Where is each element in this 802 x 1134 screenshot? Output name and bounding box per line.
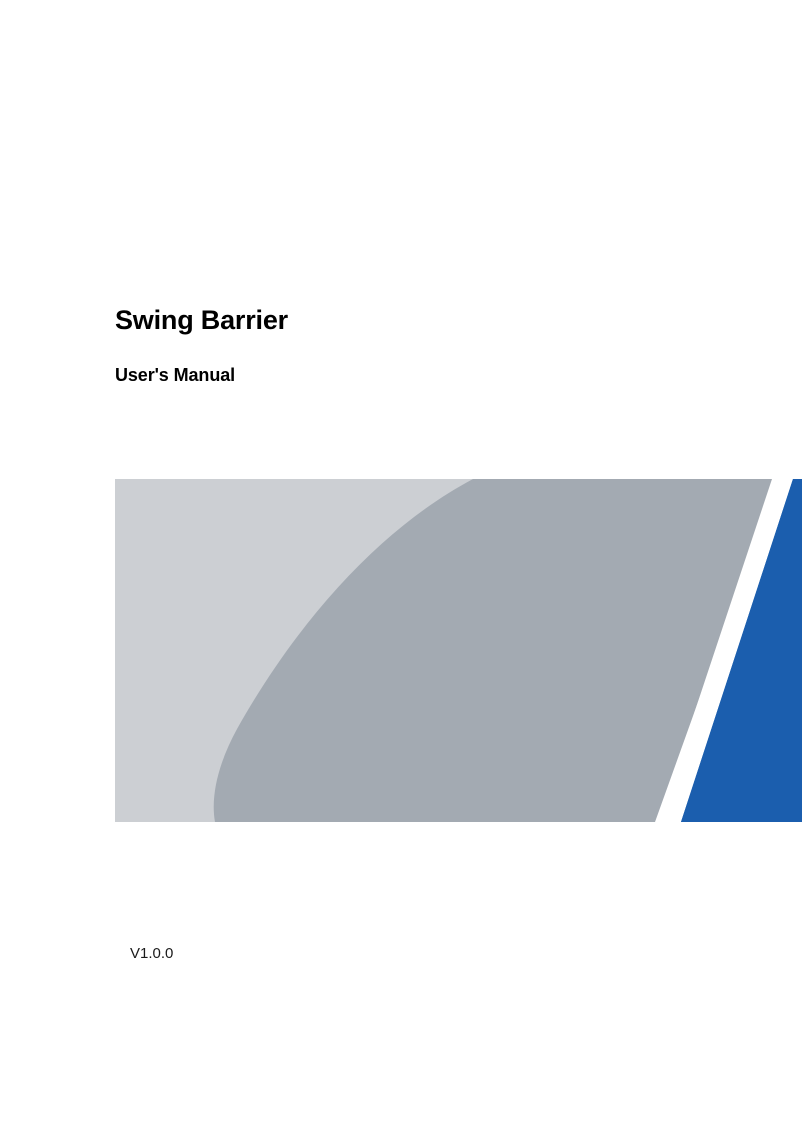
title-block: Swing Barrier User's Manual — [115, 305, 735, 386]
cover-page: Swing Barrier User's Manual V1.0.0 — [0, 0, 802, 1134]
cover-banner-graphic — [115, 479, 802, 822]
page-subtitle: User's Manual — [115, 336, 735, 386]
document-version: V1.0.0 — [130, 945, 173, 963]
page-title: Swing Barrier — [115, 305, 735, 336]
cover-banner-svg — [115, 479, 802, 822]
